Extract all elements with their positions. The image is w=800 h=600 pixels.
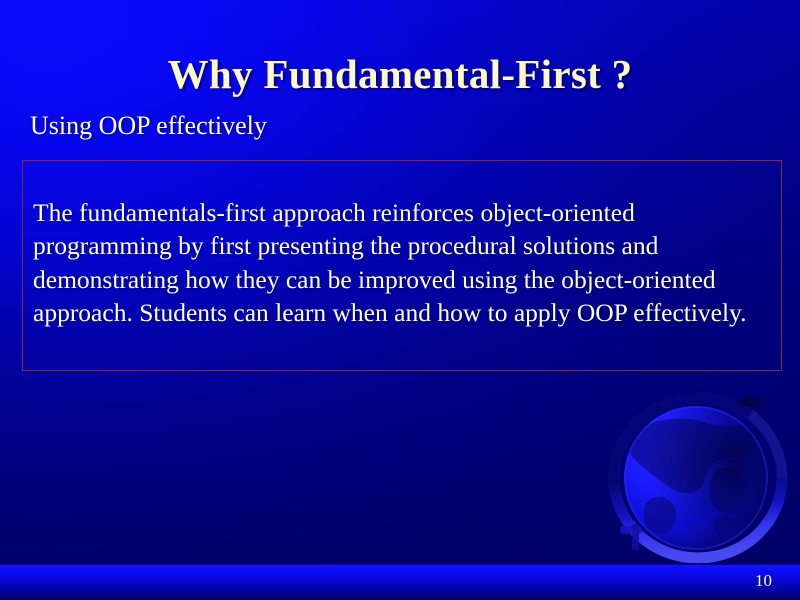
slide-subtitle: Using OOP effectively <box>30 110 267 142</box>
body-paragraph: The fundamentals-first approach reinforc… <box>33 196 771 330</box>
bottom-accent-band <box>0 565 800 600</box>
body-text-box: The fundamentals-first approach reinforc… <box>22 160 782 371</box>
page-number: 10 <box>755 570 772 592</box>
page-title: Why Fundamental-First ? <box>0 49 800 99</box>
presentation-slide: Why Fundamental-First ? Using OOP effect… <box>0 0 800 600</box>
